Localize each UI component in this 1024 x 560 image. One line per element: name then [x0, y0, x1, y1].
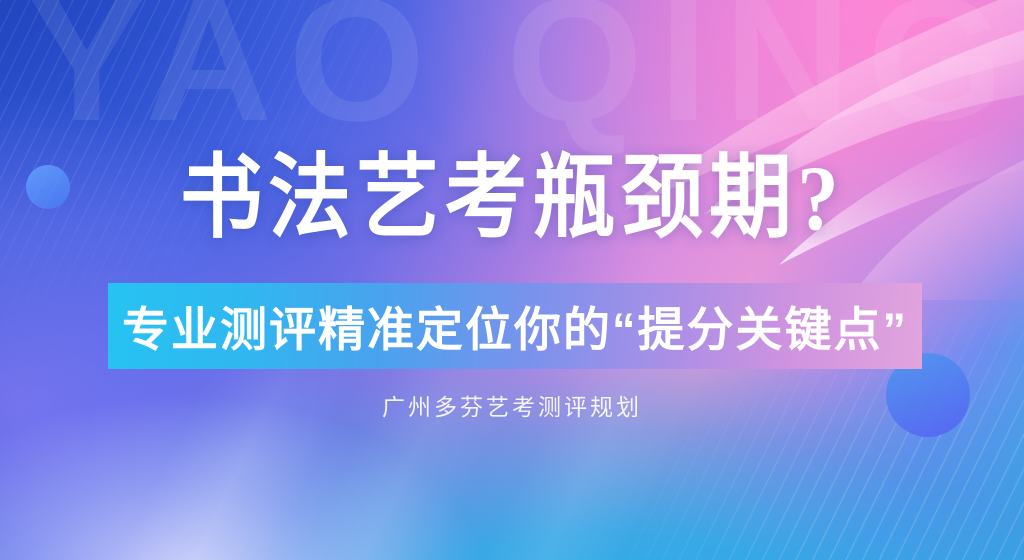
banner-canvas: YAO QING [0, 0, 1024, 560]
subtitle-banner-bar: 专业测评精准定位你的“提分关键点” [108, 283, 922, 369]
organization-name: 广州多芬艺考测评规划 [0, 388, 1024, 422]
subtitle-text: 专业测评精准定位你的“提分关键点” [122, 291, 908, 360]
banner-content: 书法艺考瓶颈期? 专业测评精准定位你的“提分关键点” 广州多芬艺考测评规划 [0, 0, 1024, 560]
page-title: 书法艺考瓶颈期? [51, 150, 973, 247]
